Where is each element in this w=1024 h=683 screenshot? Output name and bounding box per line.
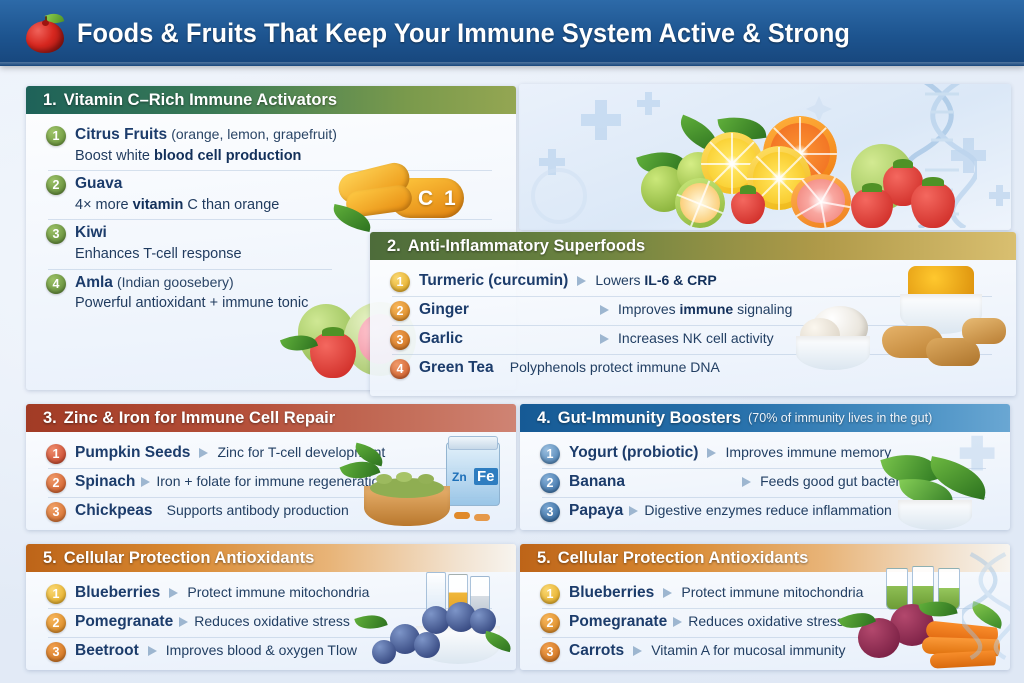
section-header-bar: 4. Gut-Immunity Boosters (70% of immunit… (520, 404, 1010, 432)
section-header-bar: 5. Cellular Protection Antioxidants (26, 544, 516, 572)
section-title: Cellular Protection Antioxidants (558, 549, 809, 568)
section-number: 3. (43, 409, 57, 428)
list-item[interactable]: 1 Pumpkin Seeds Zinc for T-cell developm… (38, 439, 506, 468)
arrow-icon (199, 448, 208, 458)
section-antioxidants-left[interactable]: 5. Cellular Protection Antioxidants 1 Bl… (26, 544, 516, 670)
item-description: Reduces oxidative stress (688, 613, 844, 629)
section-title: Anti-Inflammatory Superfoods (408, 237, 645, 256)
item-name: Garlic (419, 330, 463, 347)
arrow-icon (169, 588, 178, 598)
arrow-icon (148, 646, 157, 656)
section-title: Zinc & Iron for Immune Cell Repair (64, 409, 335, 428)
arrow-icon (742, 477, 751, 487)
fruit-pile (615, 108, 965, 228)
item-name: Beetroot (75, 642, 139, 659)
section-number: 2. (387, 237, 401, 256)
item-description: Reduces oxidative stress (194, 613, 350, 629)
list-item[interactable]: 1 Blueberries Protect immune mitochondri… (38, 579, 506, 608)
item-paren: (curcumin) (488, 272, 568, 289)
item-name: Guava (75, 175, 122, 192)
section-anti-inflammatory[interactable]: 2. Anti-Inflammatory Superfoods 1 Turmer… (370, 232, 1016, 396)
item-number-badge: 1 (540, 584, 560, 604)
list-item[interactable]: 3 Papaya Digestive enzymes reduce inflam… (532, 497, 1000, 526)
item-number-badge: 4 (46, 274, 66, 294)
item-description: Increases NK cell activity (618, 330, 774, 346)
section-number: 1. (43, 91, 57, 110)
item-description: Boost white blood cell production (75, 147, 337, 166)
item-paren: (Indian goosebery) (117, 274, 234, 290)
section-items: 1 Turmeric (curcumin) Lowers IL-6 & CRP … (370, 260, 1016, 390)
item-number-badge: 2 (46, 473, 66, 493)
arrow-icon (633, 646, 642, 656)
list-item[interactable]: 2 Pomegranate Reduces oxidative stress (532, 608, 1000, 637)
item-description: Digestive enzymes reduce inflammation (644, 502, 891, 518)
item-name: Pomegranate (569, 613, 667, 630)
item-number-badge: 1 (540, 444, 560, 464)
item-name: Carrots (569, 642, 624, 659)
section-number: 5. (43, 549, 57, 568)
list-item[interactable]: 2 Ginger Improves immune signaling (382, 296, 1006, 325)
section-antioxidants-right[interactable]: 5. Cellular Protection Antioxidants 1 Bl… (520, 544, 1010, 670)
item-description: Powerful antioxidant + immune tonic (75, 294, 308, 313)
arrow-icon (600, 305, 609, 315)
section-items: 1 Blueberries Protect immune mitochondri… (26, 572, 516, 670)
infographic-poster: Foods & Fruits That Keep Your Immune Sys… (0, 0, 1024, 683)
item-description: Iron + folate for immune regeneration (156, 473, 387, 489)
item-name: Ginger (419, 301, 469, 318)
section-header-bar: 3. Zinc & Iron for Immune Cell Repair (26, 404, 516, 432)
item-description: 4× more vitamin C than orange (75, 196, 279, 215)
section-header-bar: 1. Vitamin C–Rich Immune Activators (26, 86, 516, 114)
section-header-bar: 5. Cellular Protection Antioxidants (520, 544, 1010, 572)
list-item[interactable]: 3 Garlic Increases NK cell activity (382, 325, 1006, 354)
item-number-badge: 1 (46, 444, 66, 464)
list-item[interactable]: 1 Citrus Fruits (orange, lemon, grapefru… (38, 121, 506, 170)
arrow-icon (141, 477, 150, 487)
item-number-badge: 3 (46, 642, 66, 662)
item-number-badge: 3 (390, 330, 410, 350)
item-number-badge: 1 (46, 126, 66, 146)
section-items: 1 Pumpkin Seeds Zinc for T-cell developm… (26, 432, 516, 530)
item-description: Polyphenols protect immune DNA (510, 359, 720, 375)
item-description: Lowers IL-6 & CRP (595, 272, 716, 288)
section-items: 1 Blueberries Protect immune mitochondri… (520, 572, 1010, 670)
list-item[interactable]: 2 Guava 4× more vitamin C than orange (38, 170, 506, 219)
list-item[interactable]: 3 Chickpeas Supports antibody production (38, 497, 506, 526)
item-description: Vitamin A for mucosal immunity (651, 642, 845, 658)
item-number-badge: 2 (540, 613, 560, 633)
list-item[interactable]: 2 Pomegranate Reduces oxidative stress (38, 608, 506, 637)
item-name: Pomegranate (75, 613, 173, 630)
item-number-badge: 1 (46, 584, 66, 604)
section-title: Vitamin C–Rich Immune Activators (64, 91, 337, 110)
item-description: Feeds good gut bacteria (760, 473, 911, 489)
item-name: Kiwi (75, 224, 107, 241)
list-item[interactable]: 3 Beetroot Improves blood & oxygen Tlow (38, 637, 506, 666)
list-item[interactable]: 4 Green Tea Polyphenols protect immune D… (382, 354, 1006, 383)
item-name: Amla (75, 274, 113, 291)
list-item[interactable]: 1 Yogurt (probiotic) Improves immune mem… (532, 439, 1000, 468)
item-name: Spinach (75, 473, 135, 490)
item-number-badge: 1 (390, 272, 410, 292)
poster-header: Foods & Fruits That Keep Your Immune Sys… (0, 0, 1024, 66)
section-title: Gut-Immunity Boosters (558, 409, 741, 428)
section-header-bar: 2. Anti-Inflammatory Superfoods (370, 232, 1016, 260)
item-description: Enhances T-cell response (75, 245, 242, 264)
item-number-badge: 2 (46, 613, 66, 633)
section-title: Cellular Protection Antioxidants (64, 549, 315, 568)
item-description: Zinc for T-cell development (218, 444, 386, 460)
item-number-badge: 2 (46, 175, 66, 195)
list-item[interactable]: 2 Banana Feeds good gut bacteria (532, 468, 1000, 497)
item-number-badge: 3 (540, 642, 560, 662)
section-gut-immunity[interactable]: 4. Gut-Immunity Boosters (70% of immunit… (520, 404, 1010, 530)
item-name: Citrus Fruits (75, 126, 167, 143)
item-name: Green Tea (419, 359, 494, 376)
section-subtitle: (70% of immunity lives in the gut) (748, 411, 932, 425)
page-title: Foods & Fruits That Keep Your Immune Sys… (77, 18, 850, 49)
item-paren: (probiotic) (622, 444, 699, 461)
item-description: Supports antibody production (167, 502, 349, 518)
section-items: 1 Yogurt (probiotic) Improves immune mem… (520, 432, 1010, 530)
list-item[interactable]: 1 Turmeric (curcumin) Lowers IL-6 & CRP (382, 267, 1006, 296)
section-number: 4. (537, 409, 551, 428)
item-name: Yogurt (569, 444, 618, 461)
item-number-badge: 3 (46, 224, 66, 244)
arrow-icon (600, 334, 609, 344)
item-description: Protect immune mitochondria (187, 584, 369, 600)
list-item[interactable]: 3 Carrots Vitamin A for mucosal immunity (532, 637, 1000, 666)
apple-icon (26, 13, 64, 53)
arrow-icon (179, 617, 188, 627)
item-name: Blueberries (75, 584, 160, 601)
list-item[interactable]: 1 Blueberries Protect immune mitochondri… (532, 579, 1000, 608)
list-item[interactable]: 4 Amla (Indian goosebery) Powerful antio… (38, 269, 346, 318)
arrow-icon (629, 506, 638, 516)
arrow-icon (663, 588, 672, 598)
item-name: Turmeric (419, 272, 484, 289)
section-number: 5. (537, 549, 551, 568)
item-name: Banana (569, 473, 625, 490)
item-number-badge: 2 (540, 473, 560, 493)
item-name: Pumpkin Seeds (75, 444, 190, 461)
item-paren: (orange, lemon, grapefruit) (171, 126, 337, 142)
item-description: Improves blood & oxygen Tlow (166, 642, 357, 658)
list-item[interactable]: 2 Spinach Iron + folate for immune regen… (38, 468, 506, 497)
item-number-badge: 4 (390, 359, 410, 379)
item-name: Blueberries (569, 584, 654, 601)
item-description: Improves immune memory (726, 444, 892, 460)
arrow-icon (577, 276, 586, 286)
item-description: Protect immune mitochondria (681, 584, 863, 600)
item-number-badge: 3 (46, 502, 66, 522)
item-name: Papaya (569, 502, 623, 519)
item-name: Chickpeas (75, 502, 153, 519)
section-zinc-iron[interactable]: 3. Zinc & Iron for Immune Cell Repair 1 … (26, 404, 516, 530)
item-number-badge: 2 (390, 301, 410, 321)
item-number-badge: 3 (540, 502, 560, 522)
arrow-icon (707, 448, 716, 458)
arrow-icon (673, 617, 682, 627)
item-description: Improves immune signaling (618, 301, 792, 317)
citrus-fruit-illustration (519, 84, 1011, 230)
